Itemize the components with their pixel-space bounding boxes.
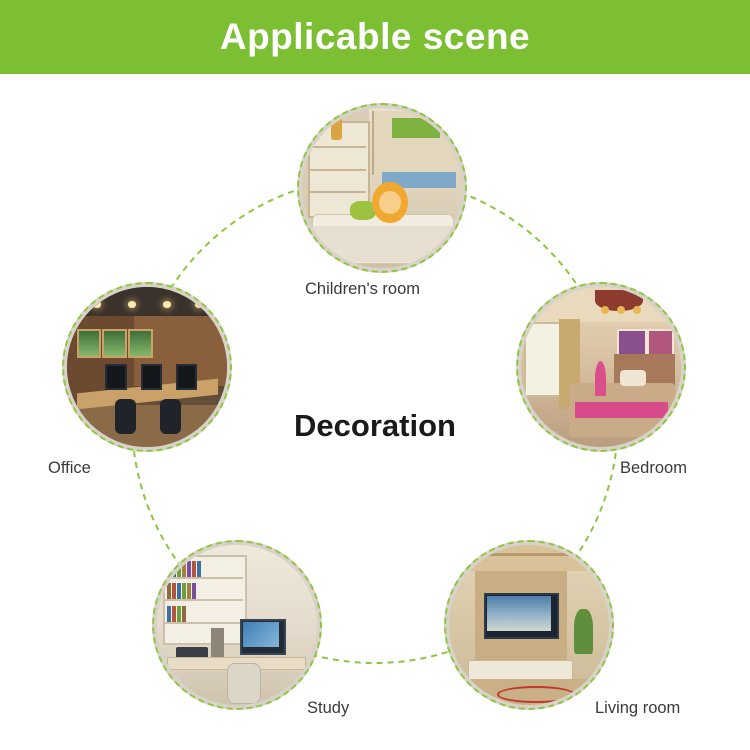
children-room-photo[interactable]	[297, 103, 467, 273]
study-photo[interactable]	[152, 540, 322, 710]
applicable-scene-diagram: Decoration	[0, 74, 750, 750]
living-room-photo[interactable]	[444, 540, 614, 710]
caption-office: Office	[48, 459, 91, 478]
page-title: Applicable scene	[220, 16, 530, 58]
caption-living-room: Living room	[595, 699, 680, 718]
header-banner: Applicable scene	[0, 0, 750, 74]
caption-study: Study	[307, 699, 349, 718]
caption-bedroom: Bedroom	[620, 459, 687, 478]
caption-children-room: Children's room	[305, 280, 420, 299]
bedroom-photo[interactable]	[516, 282, 686, 452]
office-photo[interactable]	[62, 282, 232, 452]
